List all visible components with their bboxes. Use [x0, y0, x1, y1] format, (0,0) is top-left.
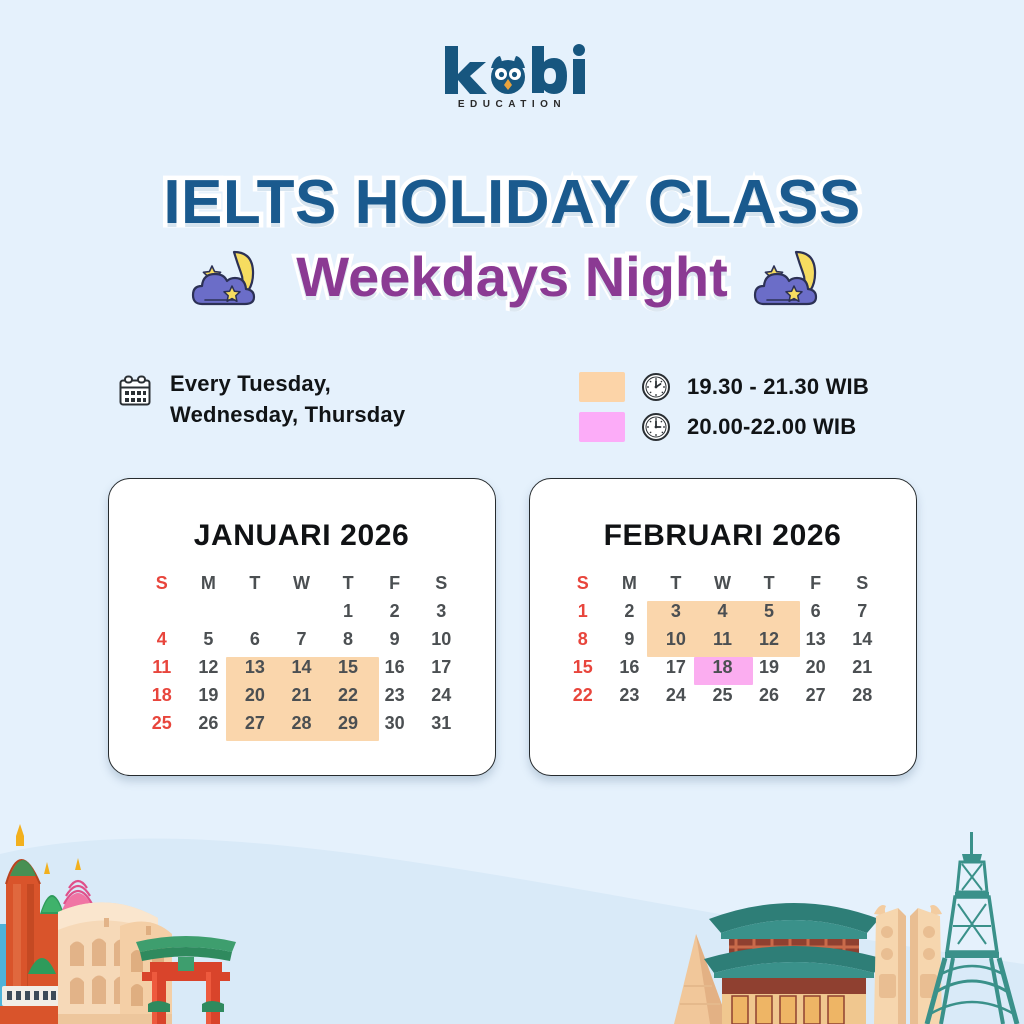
legend-item: 19.30 - 21.30 WIB [579, 372, 869, 402]
day-cell: 30 [371, 709, 418, 737]
legend-swatch-orange [579, 372, 625, 402]
weekday-header: W [278, 569, 325, 597]
weekday-header: S [560, 569, 607, 597]
calendar-list: JANUARI 2026SMTWTFS123456789101112131415… [0, 478, 1024, 776]
day-cell: 28 [839, 681, 886, 709]
calendar-card: JANUARI 2026SMTWTFS123456789101112131415… [108, 478, 496, 776]
day-cell: 2 [606, 597, 653, 625]
legend-swatch-pink [579, 412, 625, 442]
moon-cloud-icon [750, 246, 836, 308]
day-cell: 13 [792, 625, 839, 653]
weekday-header: T [325, 569, 372, 597]
calendar-grid: SMTWTFS123456789101112131415161718192021… [560, 569, 886, 709]
day-cell: 17 [418, 653, 465, 681]
calendar-grid: SMTWTFS123456789101112131415161718192021… [139, 569, 465, 737]
pyramid [674, 934, 729, 1024]
korean-palace [704, 903, 884, 1024]
day-cell: 5 [185, 625, 232, 653]
day-cell: 26 [185, 709, 232, 737]
day-cell: 19 [746, 653, 793, 681]
weekday-header: F [371, 569, 418, 597]
day-cell: 11 [699, 625, 746, 653]
weekday-header: T [746, 569, 793, 597]
schedule-line-2: Wednesday, Thursday [170, 399, 405, 430]
day-cell: 7 [839, 597, 886, 625]
day-cell: 4 [139, 625, 186, 653]
weekday-header: S [139, 569, 186, 597]
day-cell: 8 [325, 625, 372, 653]
day-cell: 3 [418, 597, 465, 625]
day-cell: 20 [232, 681, 279, 709]
day-cell: 6 [232, 625, 279, 653]
page-subtitle: Weekdays Night [296, 249, 728, 305]
day-cell: 31 [418, 709, 465, 737]
day-cell: 25 [699, 681, 746, 709]
day-cell: 24 [653, 681, 700, 709]
day-cell: 5 [746, 597, 793, 625]
right-landmarks-illustration [674, 814, 1024, 1024]
calendar-title: JANUARI 2026 [109, 519, 495, 553]
day-cell: 17 [653, 653, 700, 681]
day-cell: 9 [371, 625, 418, 653]
weekday-header: S [839, 569, 886, 597]
legend-label: 20.00-22.00 WIB [687, 414, 856, 440]
weekday-header: T [653, 569, 700, 597]
poster-canvas: EDUCATION IELTS HOLIDAY CLASS Weekdays N… [0, 0, 1024, 1024]
day-cell-empty [278, 597, 325, 625]
clock-icon [641, 372, 671, 402]
day-cell: 9 [606, 625, 653, 653]
day-cell: 25 [139, 709, 186, 737]
day-cell: 3 [653, 597, 700, 625]
day-cell: 23 [606, 681, 653, 709]
day-cell: 18 [139, 681, 186, 709]
day-cell: 2 [371, 597, 418, 625]
day-cell: 26 [746, 681, 793, 709]
day-cell: 10 [653, 625, 700, 653]
day-cell-empty [232, 597, 279, 625]
subtitle-row: Weekdays Night [0, 246, 1024, 308]
calendar-icon [118, 374, 152, 408]
info-row: Every Tuesday, Wednesday, Thursday [0, 368, 1024, 442]
day-cell: 14 [278, 653, 325, 681]
owl-logo-icon [437, 44, 587, 96]
day-cell: 21 [278, 681, 325, 709]
clock-icon [641, 412, 671, 442]
day-cell: 12 [746, 625, 793, 653]
weekday-header: F [792, 569, 839, 597]
day-cell: 1 [560, 597, 607, 625]
schedule-line-1: Every Tuesday, [170, 368, 405, 399]
calendars-area: JANUARI 2026SMTWTFS123456789101112131415… [0, 478, 1024, 776]
day-cell: 8 [560, 625, 607, 653]
day-cell: 29 [325, 709, 372, 737]
calendar-card: FEBRUARI 2026SMTWTFS12345678910111213141… [529, 478, 917, 776]
day-cell: 15 [325, 653, 372, 681]
day-cell: 1 [325, 597, 372, 625]
day-cell: 22 [325, 681, 372, 709]
calendar-grid-wrap: SMTWTFS123456789101112131415161718192021… [139, 569, 465, 737]
brand-tagline: EDUCATION [0, 99, 1024, 110]
legend-item: 20.00-22.00 WIB [579, 412, 869, 442]
moon-cloud-icon [188, 246, 274, 308]
day-cell: 28 [278, 709, 325, 737]
day-cell-empty [139, 597, 186, 625]
day-cell: 19 [185, 681, 232, 709]
day-cell: 21 [839, 653, 886, 681]
torii-gate [136, 936, 236, 1024]
day-cell: 12 [185, 653, 232, 681]
day-cell: 23 [371, 681, 418, 709]
calendar-grid-wrap: SMTWTFS123456789101112131415161718192021… [560, 569, 886, 709]
brand-logo: EDUCATION [0, 44, 1024, 110]
schedule-block: Every Tuesday, Wednesday, Thursday [118, 368, 573, 430]
weekday-header: T [232, 569, 279, 597]
day-cell: 4 [699, 597, 746, 625]
day-cell: 16 [606, 653, 653, 681]
headline-block: IELTS HOLIDAY CLASS Weekdays Night [0, 172, 1024, 308]
day-cell: 13 [232, 653, 279, 681]
weekday-header: S [418, 569, 465, 597]
legend: 19.30 - 21.30 WIB [579, 368, 869, 442]
schedule-text: Every Tuesday, Wednesday, Thursday [170, 368, 405, 430]
weekday-header: M [185, 569, 232, 597]
left-landmarks-illustration [0, 814, 300, 1024]
day-cell: 6 [792, 597, 839, 625]
day-cell: 27 [232, 709, 279, 737]
calendar-title: FEBRUARI 2026 [530, 519, 916, 553]
day-cell: 22 [560, 681, 607, 709]
day-cell: 15 [560, 653, 607, 681]
day-cell: 14 [839, 625, 886, 653]
weekday-header: M [606, 569, 653, 597]
page-title: IELTS HOLIDAY CLASS [0, 172, 1024, 234]
day-cell: 20 [792, 653, 839, 681]
day-cell: 16 [371, 653, 418, 681]
day-cell: 10 [418, 625, 465, 653]
day-cell: 27 [792, 681, 839, 709]
day-cell-empty [185, 597, 232, 625]
day-cell: 18 [699, 653, 746, 681]
day-cell: 24 [418, 681, 465, 709]
day-cell: 7 [278, 625, 325, 653]
legend-label: 19.30 - 21.30 WIB [687, 374, 869, 400]
day-cell: 11 [139, 653, 186, 681]
weekday-header: W [699, 569, 746, 597]
